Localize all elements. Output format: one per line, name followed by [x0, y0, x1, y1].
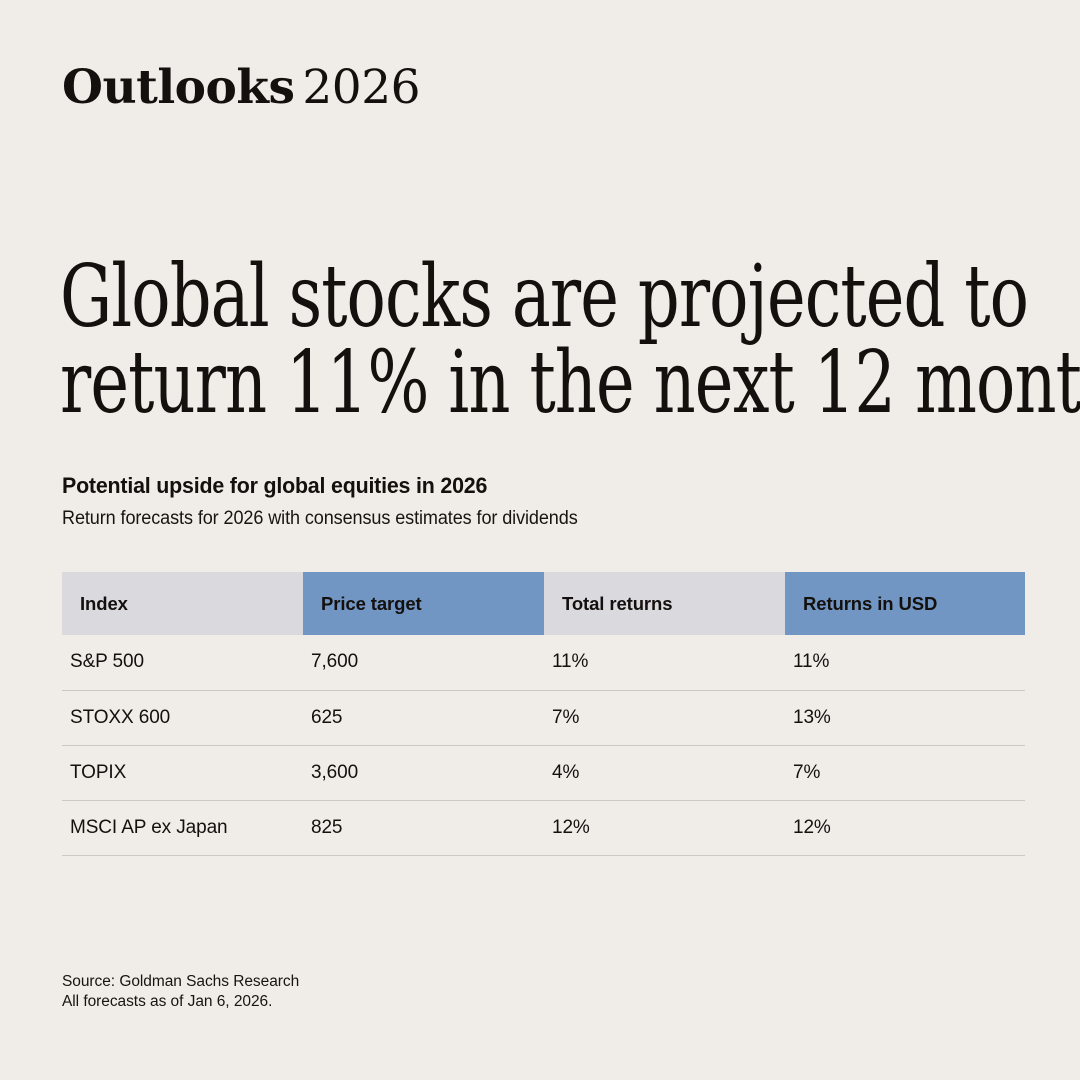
table-body: S&P 500 7,600 11% 11% STOXX 600 625 7% 1… [62, 635, 1025, 855]
table-row: S&P 500 7,600 11% 11% [62, 635, 1025, 690]
cell-total-returns: 12% [544, 800, 785, 855]
data-table-container: Index Price target Total returns Returns… [62, 572, 1025, 856]
poster-canvas: Outlooks2026 Global stocks are projected… [0, 0, 1080, 1080]
cell-returns-in-usd: 13% [785, 690, 1025, 745]
cell-total-returns: 7% [544, 690, 785, 745]
cell-price-target: 7,600 [303, 635, 544, 690]
table-header-row: Index Price target Total returns Returns… [62, 572, 1025, 635]
cell-returns-in-usd: 11% [785, 635, 1025, 690]
column-header-index: Index [62, 572, 303, 635]
forecast-table: Index Price target Total returns Returns… [62, 572, 1025, 856]
cell-index: TOPIX [62, 745, 303, 800]
cell-total-returns: 4% [544, 745, 785, 800]
page-title: Global stocks are projected to return 11… [60, 254, 1018, 426]
cell-price-target: 3,600 [303, 745, 544, 800]
source-note: Source: Goldman Sachs Research All forec… [62, 972, 299, 1012]
table-row: STOXX 600 625 7% 13% [62, 690, 1025, 745]
column-header-returns-in-usd: Returns in USD [785, 572, 1025, 635]
source-line-2: All forecasts as of Jan 6, 2026. [62, 992, 299, 1012]
column-header-total-returns: Total returns [544, 572, 785, 635]
brand-year: 2026 [302, 60, 420, 115]
source-line-1: Source: Goldman Sachs Research [62, 972, 299, 992]
cell-price-target: 625 [303, 690, 544, 745]
cell-index: S&P 500 [62, 635, 303, 690]
table-row: MSCI AP ex Japan 825 12% 12% [62, 800, 1025, 855]
cell-index: STOXX 600 [62, 690, 303, 745]
table-header: Index Price target Total returns Returns… [62, 572, 1025, 635]
headline-line-2: return 11% in the next 12 months [60, 340, 1018, 426]
headline-line-1: Global stocks are projected to [60, 254, 1018, 340]
table-row: TOPIX 3,600 4% 7% [62, 745, 1025, 800]
cell-total-returns: 11% [544, 635, 785, 690]
cell-index: MSCI AP ex Japan [62, 800, 303, 855]
cell-price-target: 825 [303, 800, 544, 855]
brand-logo: Outlooks2026 [62, 64, 420, 111]
chart-title: Potential upside for global equities in … [62, 473, 487, 499]
brand-name: Outlooks [62, 60, 294, 115]
cell-returns-in-usd: 12% [785, 800, 1025, 855]
column-header-price-target: Price target [303, 572, 544, 635]
chart-subtitle: Return forecasts for 2026 with consensus… [62, 508, 578, 530]
cell-returns-in-usd: 7% [785, 745, 1025, 800]
